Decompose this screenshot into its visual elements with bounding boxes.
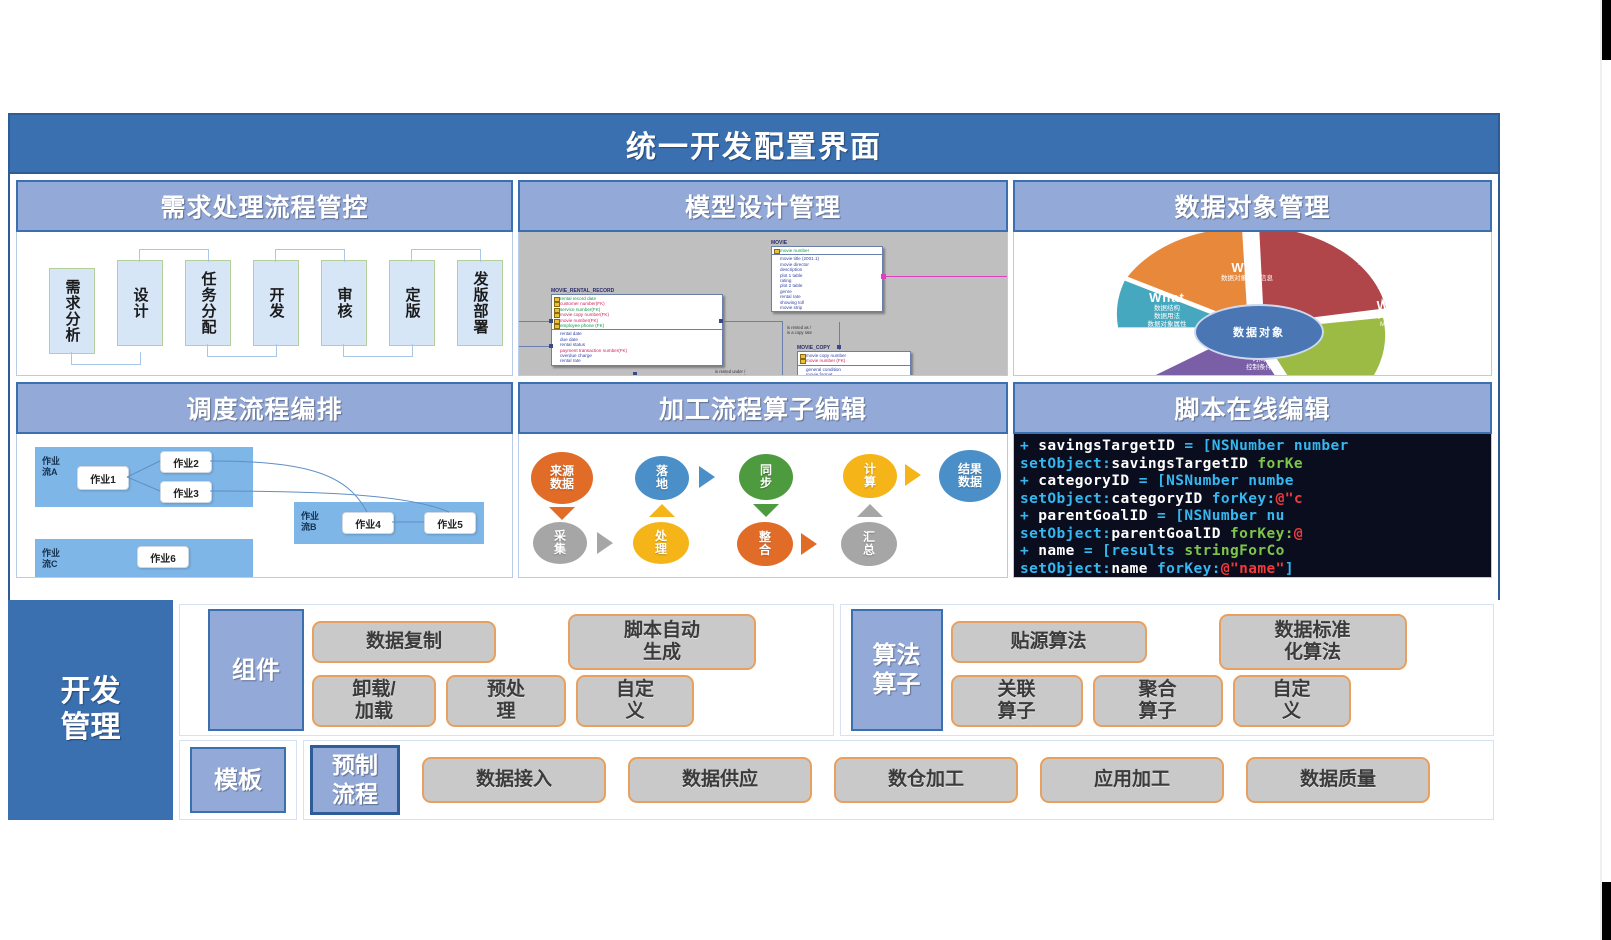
edge-divider-line — [1600, 0, 1602, 940]
chip-source-algorithm[interactable]: 贴源算法 — [951, 621, 1147, 663]
code-line: + name = [results stringForCo — [1020, 543, 1491, 561]
panels-container: 需求处理流程管控 需求分析 设计 任务分配 开发 审核 定版 发版部署 — [8, 174, 1500, 644]
flow-step-6[interactable]: 定版 — [389, 260, 435, 346]
panel-requirement-flow[interactable]: 需求处理流程管控 需求分析 设计 任务分配 开发 审核 定版 发版部署 — [16, 180, 513, 376]
chip-warehouse-processing[interactable]: 数仓加工 — [834, 757, 1018, 803]
jobflow-a-label: 作业 流A — [42, 456, 60, 478]
er-endpoint — [719, 319, 723, 323]
er-field: movie strip — [780, 305, 880, 310]
operator-collect[interactable]: 采 集 — [533, 522, 587, 564]
flow-connector-top-1 — [139, 249, 209, 262]
job-3[interactable]: 作业3 — [160, 481, 212, 503]
panel-title-dataobject: 数据对象管理 — [1174, 188, 1330, 224]
arrow-up-process — [649, 504, 675, 517]
chip-unload-load[interactable]: 卸载/ 加载 — [312, 675, 436, 727]
code-line: + categoryID = [NSNumber numbe — [1020, 473, 1491, 491]
operator-summary[interactable]: 汇 总 — [841, 522, 897, 566]
dev-card-components: 组件 数据复制 脚本自动 生成 卸载/ 加载 预处 理 自定 义 — [179, 604, 834, 736]
er-link-highlight — [885, 276, 1008, 277]
code-line: + savingsTargetID = [NSNumber number — [1020, 438, 1491, 456]
flow-connector-top-2 — [275, 249, 345, 262]
operator-result-data[interactable]: 结果 数据 — [939, 450, 1001, 502]
panel-body-model: MOVIE_RENTAL_RECORD rental record date c… — [518, 232, 1008, 376]
chip-standardization-algorithm[interactable]: 数据标准 化算法 — [1219, 614, 1407, 670]
category-algorithms[interactable]: 算法 算子 — [851, 609, 943, 731]
chip-join-operator[interactable]: 关联 算子 — [951, 675, 1083, 727]
er-table-rental[interactable]: rental record date customer number(FK) s… — [551, 294, 723, 366]
chip-data-copy[interactable]: 数据复制 — [312, 621, 496, 663]
chip-aggregate-operator[interactable]: 聚合 算子 — [1093, 675, 1223, 727]
er-link — [721, 321, 783, 322]
chiprow-templates: 数据接入 数据供应 数仓加工 应用加工 数据质量 — [400, 757, 1489, 803]
job-6[interactable]: 作业6 — [137, 546, 189, 568]
jobflow-c-label: 作业 流C — [42, 548, 60, 570]
flow-connector-bottom-1 — [71, 352, 141, 365]
arrow-right-integrate — [801, 533, 817, 555]
category-preset-flow[interactable]: 预制 流程 — [310, 745, 400, 815]
arrow-down-sync — [753, 504, 779, 517]
category-components[interactable]: 组件 — [208, 609, 304, 731]
er-endpoint — [549, 344, 553, 348]
operator-land[interactable]: 落 地 — [635, 456, 689, 500]
operator-sync[interactable]: 同 步 — [739, 454, 793, 500]
panel-title-schedule: 调度流程编排 — [186, 390, 342, 426]
job-5[interactable]: 作业5 — [424, 512, 476, 534]
job-2[interactable]: 作业2 — [160, 451, 212, 473]
code-line: setObject:savingsTargetID forKe — [1020, 456, 1491, 474]
dev-row-components: 组件 数据复制 脚本自动 生成 卸载/ 加载 预处 理 自定 义 算法 算子 — [179, 604, 1494, 736]
er-table-keys-movie: movie number — [772, 247, 882, 255]
er-field: movie number — [780, 248, 880, 253]
page-title: 统一开发配置界面 — [626, 122, 882, 166]
job-1[interactable]: 作业1 — [77, 466, 129, 490]
er-table-fields-movie: movie title (2001.1) movie director desc… — [772, 255, 882, 311]
panel-body-script: + savingsTargetID = [NSNumber numbersetO… — [1013, 434, 1492, 578]
script-code-area[interactable]: + savingsTargetID = [NSNumber numbersetO… — [1014, 434, 1491, 577]
chip-data-ingest[interactable]: 数据接入 — [422, 757, 606, 803]
er-table-copy[interactable]: movie copy number movie number (FK) gene… — [797, 351, 911, 376]
panel-header-requirement: 需求处理流程管控 — [16, 180, 513, 232]
requirement-flow-canvas: 需求分析 设计 任务分配 开发 审核 定版 发版部署 — [39, 246, 504, 369]
er-link — [519, 346, 553, 347]
panel-title-script: 脚本在线编辑 — [1174, 390, 1330, 426]
er-field: employee phone (FK) — [560, 323, 720, 328]
chiprow-components-1: 数据复制 脚本自动 生成 — [312, 614, 829, 670]
wheel-label-where: Where 字段的物理落位 Mapping关系 — [1330, 298, 1468, 329]
chiprow-algorithms-2: 关联 算子 聚合 算子 自定 义 — [951, 675, 1490, 727]
category-template[interactable]: 模板 — [190, 747, 286, 813]
arrow-right-land — [699, 466, 715, 488]
wheel-label-who: Who 数据对象定义信息 — [1162, 260, 1332, 283]
er-endpoint — [549, 319, 553, 323]
code-line: setObject:parentGoalID forKey:@ — [1020, 526, 1491, 544]
er-table-keys-copy: movie copy number movie number (FK) — [798, 352, 910, 366]
wheel-center-label: 数据对象 — [1194, 304, 1324, 360]
job-4[interactable]: 作业4 — [342, 512, 394, 534]
flow-connector-top-3 — [411, 249, 481, 262]
er-table-fields-rental: rental date due date rental status payme… — [552, 330, 722, 364]
arrow-right-collect — [597, 532, 613, 554]
er-relation-label: is rented as /is a copy rate — [787, 325, 812, 335]
er-field: rental rate — [560, 358, 720, 363]
er-link — [519, 321, 553, 322]
edge-bar-top — [1602, 0, 1611, 60]
chip-application-processing[interactable]: 应用加工 — [1040, 757, 1224, 803]
chipgrid-algorithms: 贴源算法 数据标准 化算法 关联 算子 聚合 算子 自定 义 — [943, 614, 1490, 727]
arrow-down-source — [549, 507, 575, 520]
chip-data-quality[interactable]: 数据质量 — [1246, 757, 1430, 803]
panel-row-2: 调度流程编排 作业 流A 作业1 作业2 作业3 作业 流B 作业4 作业5 — [16, 382, 1492, 578]
panel-operator-edit[interactable]: 加工流程算子编辑 来源 数据 采 集 落 地 处 理 同 步 整 合 计 算 — [518, 382, 1008, 578]
arrow-up-summary — [857, 504, 883, 517]
er-table-movie[interactable]: movie number movie title (2001.1) movie … — [771, 246, 883, 312]
panel-job-schedule[interactable]: 调度流程编排 作业 流A 作业1 作业2 作业3 作业 流B 作业4 作业5 — [16, 382, 513, 578]
panel-body-schedule: 作业 流A 作业1 作业2 作业3 作业 流B 作业4 作业5 作业 流C — [16, 434, 513, 578]
jobflow-a[interactable]: 作业 流A — [35, 447, 253, 507]
chip-preprocess[interactable]: 预处 理 — [446, 675, 566, 727]
operator-compute[interactable]: 计 算 — [843, 454, 897, 498]
dev-card-preset-flow: 预制 流程 数据接入 数据供应 数仓加工 应用加工 数据质量 — [303, 740, 1494, 820]
flow-connector-bottom-3 — [343, 344, 413, 357]
panel-body-requirement: 需求分析 设计 任务分配 开发 审核 定版 发版部署 — [16, 232, 513, 376]
panel-title-requirement: 需求处理流程管控 — [160, 188, 368, 224]
panel-title-model: 模型设计管理 — [685, 188, 841, 224]
er-diagram-canvas[interactable]: MOVIE_RENTAL_RECORD rental record date c… — [519, 232, 1007, 375]
chipgrid-components: 数据复制 脚本自动 生成 卸载/ 加载 预处 理 自定 义 — [304, 614, 829, 727]
panel-model-design[interactable]: 模型设计管理 MOVIE_RENTAL_RECORD rental record… — [518, 180, 1008, 376]
panel-body-dataobject: Who 数据对象定义信息 How 处理数据的逻辑算法及算法 参数 字段mappi… — [1013, 232, 1492, 376]
chip-data-supply[interactable]: 数据供应 — [628, 757, 812, 803]
flow-step-7[interactable]: 发版部署 — [457, 260, 503, 346]
dev-management-section: 开发 管理 组件 数据复制 脚本自动 生成 卸载/ 加载 预处 理 自定 义 — [8, 600, 1500, 820]
chip-custom-operator[interactable]: 自定 义 — [1233, 675, 1351, 727]
arrow-right-compute — [905, 464, 921, 486]
panel-header-dataobject: 数据对象管理 — [1013, 180, 1492, 232]
er-endpoint — [633, 372, 637, 376]
flow-step-1[interactable]: 需求分析 — [49, 268, 95, 354]
code-line: setObject:categoryID forKey:@"c — [1020, 491, 1491, 509]
flow-connector-bottom-2 — [207, 344, 277, 357]
edge-bar-bottom — [1602, 882, 1611, 940]
flow-step-5[interactable]: 审核 — [321, 260, 367, 346]
er-relation-label: is rented under /records rental of — [715, 369, 745, 376]
er-field: movie format — [806, 372, 908, 376]
panel-title-operator: 加工流程算子编辑 — [659, 390, 867, 426]
flow-step-4[interactable]: 开发 — [253, 260, 299, 346]
jobflow-b-label: 作业 流B — [301, 511, 319, 533]
dev-management-title: 开发 管理 — [61, 674, 121, 746]
chip-script-autogen[interactable]: 脚本自动 生成 — [568, 614, 756, 670]
dev-management-label: 开发 管理 — [8, 600, 173, 820]
dev-management-content: 组件 数据复制 脚本自动 生成 卸载/ 加载 预处 理 自定 义 算法 算子 — [173, 600, 1500, 820]
panel-header-operator: 加工流程算子编辑 — [518, 382, 1008, 434]
panel-header-model: 模型设计管理 — [518, 180, 1008, 232]
operator-process[interactable]: 处 理 — [633, 522, 689, 564]
panel-data-object[interactable]: 数据对象管理 — [1013, 180, 1492, 376]
er-endpoint — [837, 345, 841, 349]
chiprow-algorithms-1: 贴源算法 数据标准 化算法 — [951, 614, 1490, 670]
er-endpoint-highlight — [881, 274, 886, 279]
panel-body-operator: 来源 数据 采 集 落 地 处 理 同 步 整 合 计 算 汇 总 — [518, 434, 1008, 578]
er-table-fields-copy: general condition movie format — [798, 366, 910, 376]
er-field: movie number (FK) — [806, 358, 908, 363]
panel-script-editor[interactable]: 脚本在线编辑 + savingsTargetID = [NSNumber num… — [1013, 382, 1492, 578]
operator-integrate[interactable]: 整 合 — [737, 522, 793, 566]
chiprow-components-2: 卸载/ 加载 预处 理 自定 义 — [312, 675, 829, 727]
flow-step-2[interactable]: 设计 — [117, 260, 163, 346]
code-line: setObject:name forKey:@"name"] — [1020, 561, 1491, 578]
er-link — [782, 321, 783, 376]
dev-card-template: 模板 — [179, 740, 297, 820]
code-line: + parentGoalID = [NSNumber nu — [1020, 508, 1491, 526]
data-object-wheel[interactable]: Who 数据对象定义信息 How 处理数据的逻辑算法及算法 参数 字段mappi… — [1014, 232, 1491, 375]
er-table-keys-rental: rental record date customer number(FK) s… — [552, 295, 722, 330]
page-title-bar: 统一开发配置界面 — [8, 113, 1500, 174]
panel-row-1: 需求处理流程管控 需求分析 设计 任务分配 开发 审核 定版 发版部署 — [16, 180, 1492, 376]
dev-card-algorithms: 算法 算子 贴源算法 数据标准 化算法 关联 算子 聚合 算子 自定 义 — [840, 604, 1495, 736]
panel-header-schedule: 调度流程编排 — [16, 382, 513, 434]
chip-custom-component[interactable]: 自定 义 — [576, 675, 694, 727]
dev-row-templates: 模板 预制 流程 数据接入 数据供应 数仓加工 应用加工 数据质量 — [179, 740, 1494, 820]
panel-header-script: 脚本在线编辑 — [1013, 382, 1492, 434]
operator-source-data[interactable]: 来源 数据 — [531, 452, 593, 504]
flow-step-3[interactable]: 任务分配 — [185, 260, 231, 346]
